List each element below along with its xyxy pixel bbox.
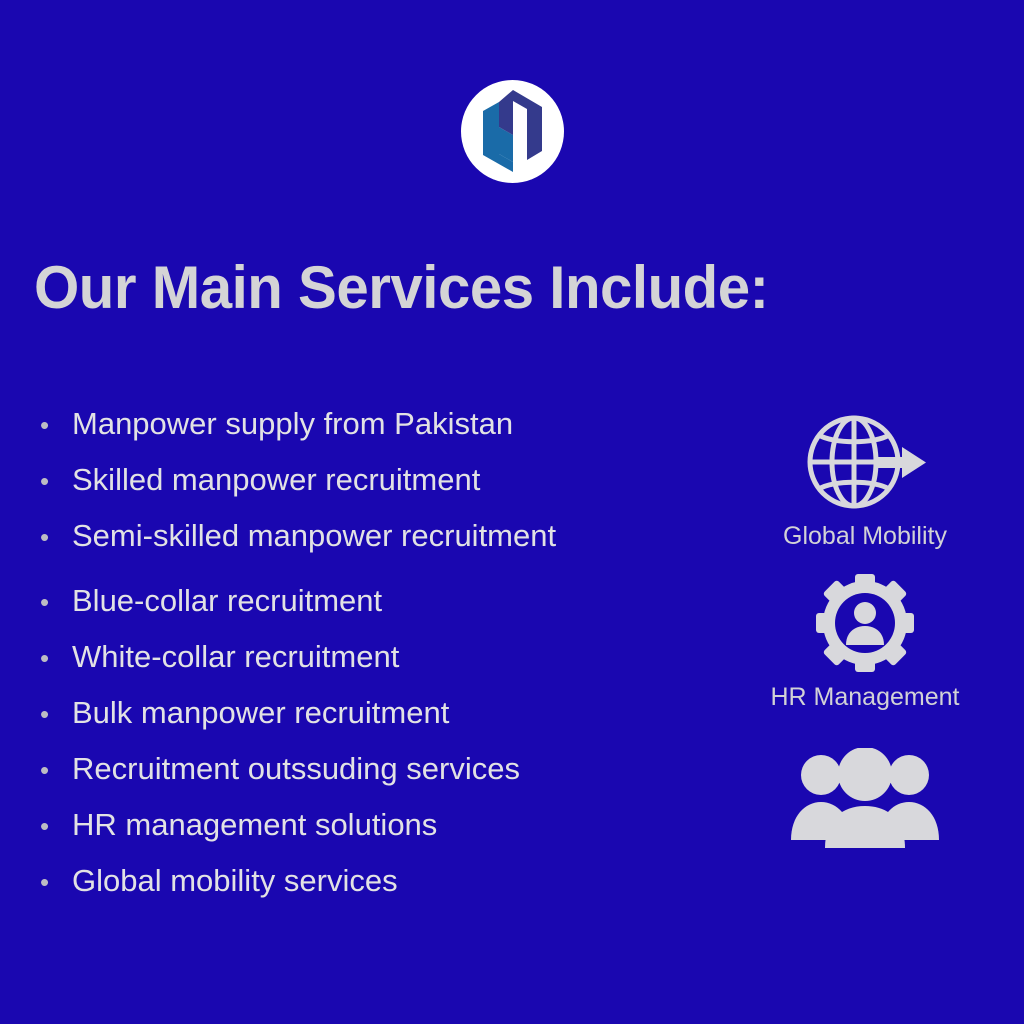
list-item-label: Manpower supply from Pakistan	[72, 408, 513, 439]
people-group-icon	[789, 748, 941, 848]
feature-global-mobility: Global Mobility	[740, 412, 990, 549]
bullet-icon: •	[40, 589, 72, 615]
feature-caption: Global Mobility	[783, 524, 947, 549]
feature-caption: HR Management	[771, 685, 960, 710]
list-item-label: Skilled manpower recruitment	[72, 464, 480, 495]
list-item: • Recruitment outssuding services	[40, 753, 700, 809]
list-item: • Bulk manpower recruitment	[40, 697, 700, 753]
bullet-icon: •	[40, 645, 72, 671]
services-list: • Manpower supply from Pakistan • Skille…	[40, 408, 700, 921]
list-item: • Semi-skilled manpower recruitment	[40, 520, 700, 585]
bullet-icon: •	[40, 468, 72, 494]
bullet-icon: •	[40, 412, 72, 438]
feature-team	[740, 748, 990, 860]
list-item: • Blue-collar recruitment	[40, 585, 700, 641]
bullet-icon: •	[40, 757, 72, 783]
list-item-label: HR management solutions	[72, 809, 437, 840]
bullet-icon: •	[40, 813, 72, 839]
feature-icon-column: Global Mobility	[740, 412, 990, 860]
list-item-label: Blue-collar recruitment	[72, 585, 382, 616]
feature-hr-management: HR Management	[740, 573, 990, 710]
bullet-icon: •	[40, 869, 72, 895]
page-title: Our Main Services Include:	[34, 258, 769, 318]
company-h-monogram-icon	[461, 80, 564, 183]
services-poster: Our Main Services Include: • Manpower su…	[0, 0, 1024, 1024]
list-item: • Skilled manpower recruitment	[40, 464, 700, 520]
bullet-icon: •	[40, 524, 72, 550]
list-item-label: White-collar recruitment	[72, 641, 399, 672]
list-item: • White-collar recruitment	[40, 641, 700, 697]
list-item-label: Global mobility services	[72, 865, 398, 896]
list-item: • Manpower supply from Pakistan	[40, 408, 700, 464]
list-item: • HR management solutions	[40, 809, 700, 865]
list-item-label: Bulk manpower recruitment	[72, 697, 449, 728]
list-item-label: Recruitment outssuding services	[72, 753, 520, 784]
logo-container	[0, 80, 1024, 183]
list-item-label: Semi-skilled manpower recruitment	[72, 520, 556, 551]
bullet-icon: •	[40, 701, 72, 727]
list-item: • Global mobility services	[40, 865, 700, 921]
gear-person-icon	[815, 573, 915, 673]
globe-arrow-icon	[802, 412, 928, 512]
